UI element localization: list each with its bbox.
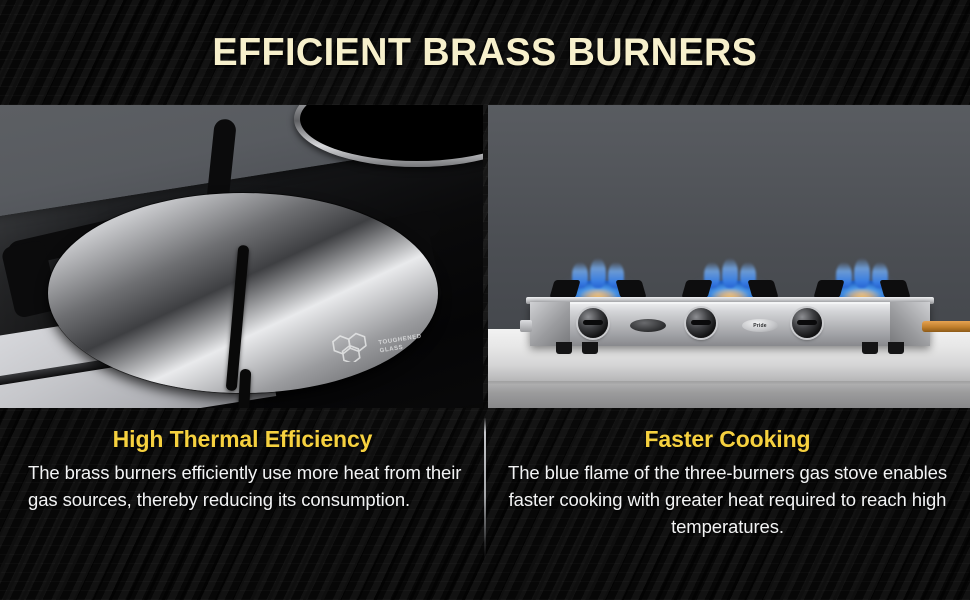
feature-heading-1: High Thermal Efficiency — [22, 426, 463, 453]
back-burner — [300, 105, 483, 181]
feature-body-2: The blue flame of the three-burners gas … — [507, 459, 948, 540]
control-knob-1[interactable] — [578, 308, 608, 338]
stove-corner-left — [530, 302, 570, 346]
gas-inlet-nozzle — [520, 320, 532, 332]
flame-tip-3b — [854, 258, 870, 288]
feature-column-1: High Thermal Efficiency The brass burner… — [0, 408, 485, 600]
grate-3-left — [813, 280, 844, 298]
stove-foot-2 — [582, 342, 598, 354]
stove-foot-4 — [888, 342, 904, 354]
photo-strip: TOUGHENED GLASS — [0, 105, 970, 408]
headline-bar: EFFICIENT BRASS BURNERS — [0, 0, 970, 105]
gas-stove: Pride — [530, 294, 930, 354]
grate-3-right — [879, 280, 910, 298]
feature-column-2: Faster Cooking The blue flame of the thr… — [485, 408, 970, 600]
feature-heading-2: Faster Cooking — [507, 426, 948, 453]
logo-text: TOUGHENED GLASS — [378, 333, 424, 356]
hexagon-icon — [331, 332, 377, 362]
main-brass-burner — [24, 183, 454, 408]
page-title: EFFICIENT BRASS BURNERS — [213, 31, 758, 75]
column-divider — [484, 418, 486, 560]
product-image-brass-burner-closeup: TOUGHENED GLASS — [0, 105, 483, 408]
product-image-three-burner-stove: Pride — [488, 105, 970, 408]
stove-foot-3 — [862, 342, 878, 354]
flame-tip-1b — [590, 258, 606, 288]
flame-tip-2b — [722, 258, 738, 288]
control-knob-2[interactable] — [686, 308, 716, 338]
brand-badge-left — [630, 319, 666, 332]
grate-2-left — [681, 280, 712, 298]
grate-2-right — [747, 280, 778, 298]
back-burner-trivet-ring — [294, 105, 483, 167]
toughened-glass-logo: TOUGHENED GLASS — [331, 330, 427, 364]
gas-hose — [922, 321, 970, 332]
grate-1-right — [615, 280, 646, 298]
feature-body-1: The brass burners efficiently use more h… — [22, 459, 463, 513]
stove-foot-1 — [556, 342, 572, 354]
brand-badge-right: Pride — [742, 319, 778, 332]
grate-1-left — [549, 280, 580, 298]
control-knob-3[interactable] — [792, 308, 822, 338]
counter-front-edge — [488, 381, 970, 384]
